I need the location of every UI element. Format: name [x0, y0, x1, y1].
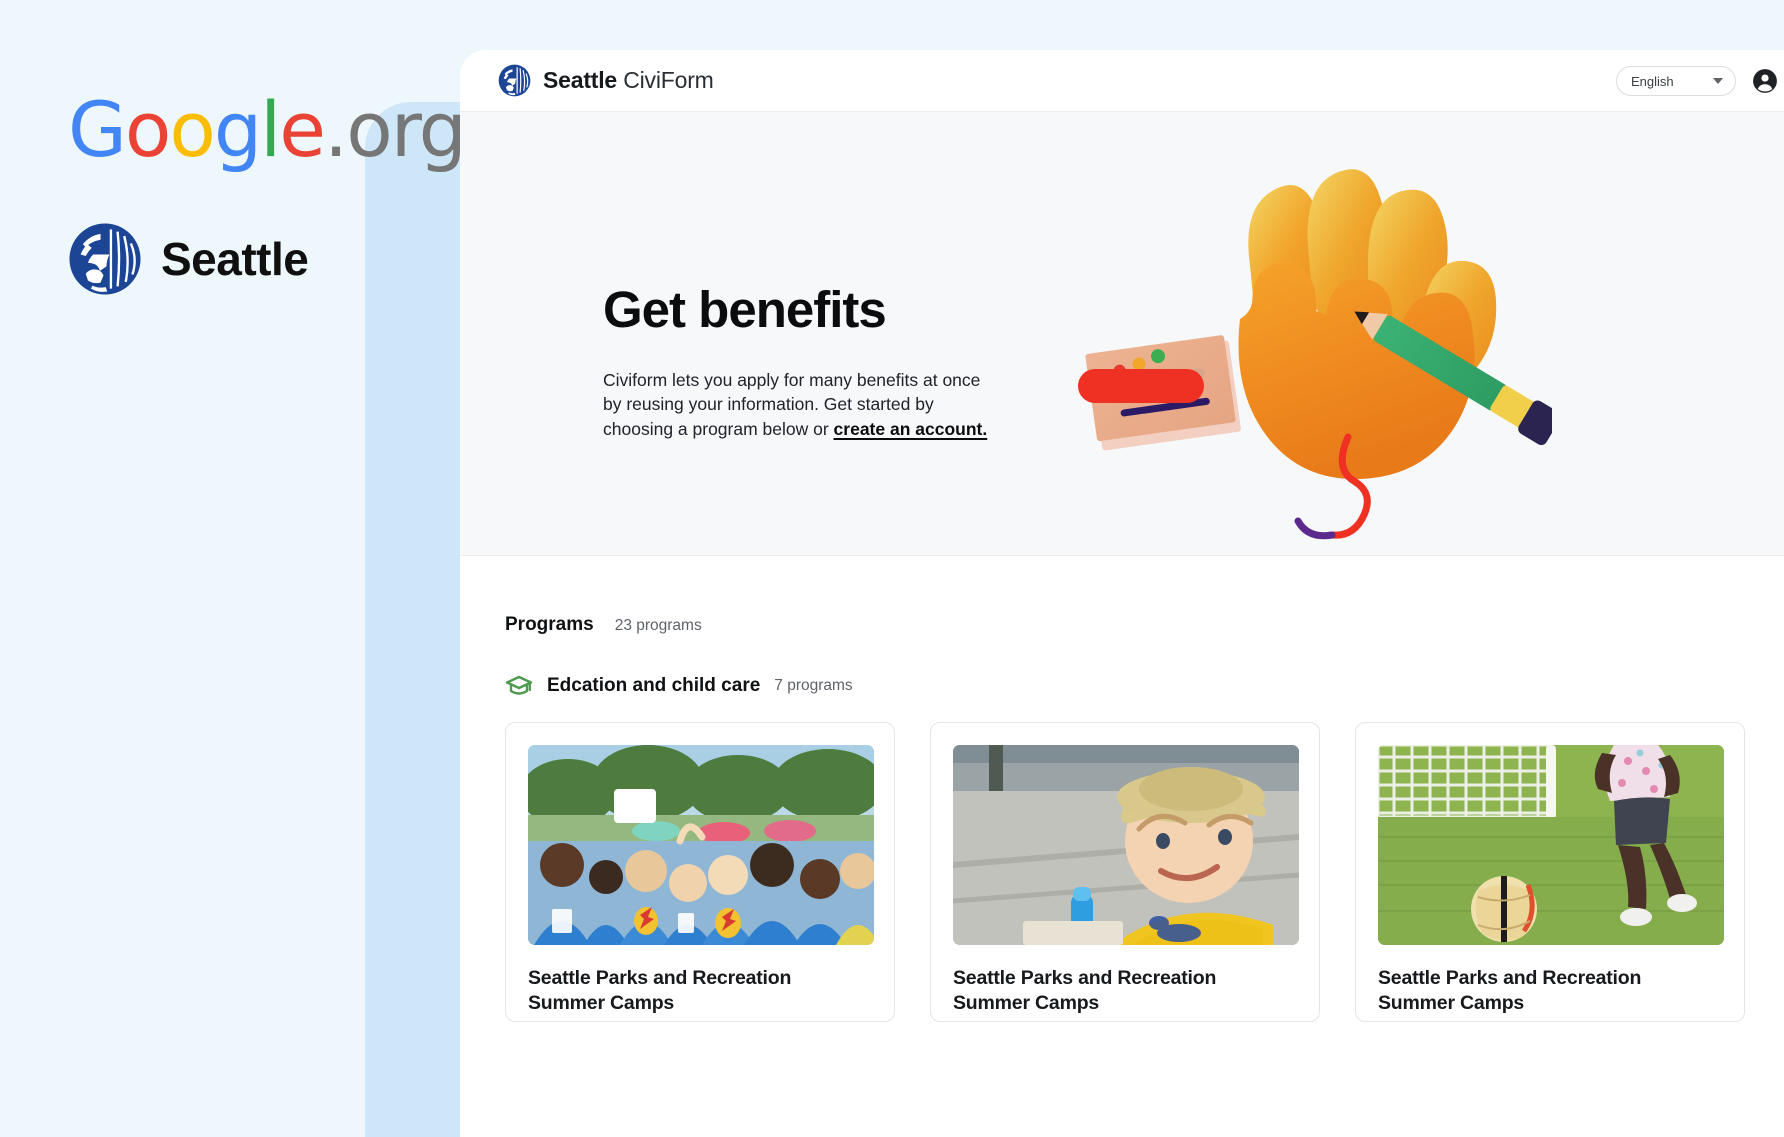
app-brand[interactable]: Seattle CiviForm: [498, 64, 714, 97]
program-card-title: Seattle Parks and Recreation Summer Camp…: [528, 966, 872, 1017]
seattle-lockup: Seattle: [68, 222, 308, 296]
category-header-education: Edcation and child care 7 programs: [505, 672, 1784, 700]
app-header: Seattle CiviForm English: [460, 50, 1784, 112]
language-select[interactable]: English: [1616, 66, 1736, 96]
chevron-down-icon: [1713, 78, 1723, 84]
google-logo-org-suffix: .org: [324, 85, 465, 174]
hand-holding-pencil-illustration: [1072, 112, 1552, 556]
create-account-link[interactable]: create an account.: [834, 419, 988, 439]
google-logo-letter-g2: g: [214, 85, 260, 174]
language-select-value: English: [1631, 74, 1674, 89]
programs-title: Programs: [505, 614, 594, 636]
google-logo-letter-e: e: [279, 85, 324, 174]
civiform-app-window: Seattle CiviForm English Get benefits Ci…: [460, 50, 1784, 1137]
page-title: Get benefits: [603, 283, 998, 337]
seattle-city-seal-icon: [498, 64, 531, 97]
program-card[interactable]: Seattle Parks and Recreation Summer Camp…: [1355, 722, 1745, 1022]
category-title: Edcation and child care: [547, 675, 760, 697]
program-card-image: [953, 745, 1299, 945]
program-card[interactable]: Seattle Parks and Recreation Summer Camp…: [505, 722, 895, 1022]
seattle-city-seal-icon: [68, 222, 142, 296]
program-card-image: [528, 745, 874, 945]
google-logo-letter-l: l: [260, 85, 279, 174]
program-card-title: Seattle Parks and Recreation Summer Camp…: [1378, 966, 1722, 1017]
seattle-wordmark: Seattle: [161, 232, 308, 286]
google-logo-letter-g: G: [68, 85, 125, 174]
google-org-logo: Google.org: [68, 92, 465, 168]
app-brand-text: Seattle CiviForm: [543, 67, 714, 94]
category-count: 7 programs: [774, 677, 852, 695]
programs-header: Programs 23 programs: [505, 556, 1784, 636]
google-logo-letter-o2: o: [169, 85, 214, 174]
app-brand-regular: CiviForm: [623, 67, 713, 93]
program-card-row: Seattle Parks and Recreation Summer Camp…: [505, 722, 1784, 1022]
program-card-image: [1378, 745, 1724, 945]
graduation-cap-icon: [505, 672, 533, 700]
program-card-title: Seattle Parks and Recreation Summer Camp…: [953, 966, 1297, 1017]
hero-copy: Get benefits Civiform lets you apply for…: [603, 283, 998, 442]
hero-section: Get benefits Civiform lets you apply for…: [460, 112, 1784, 556]
programs-count: 23 programs: [615, 617, 702, 635]
google-logo-letter-o1: o: [125, 85, 170, 174]
account-circle-icon[interactable]: [1752, 68, 1778, 94]
hero-description: Civiform lets you apply for many benefit…: [603, 368, 998, 443]
programs-section: Programs 23 programs Edcation and child …: [460, 556, 1784, 1022]
program-card[interactable]: Seattle Parks and Recreation Summer Camp…: [930, 722, 1320, 1022]
app-brand-bold: Seattle: [543, 67, 617, 93]
header-actions: English: [1616, 50, 1784, 112]
